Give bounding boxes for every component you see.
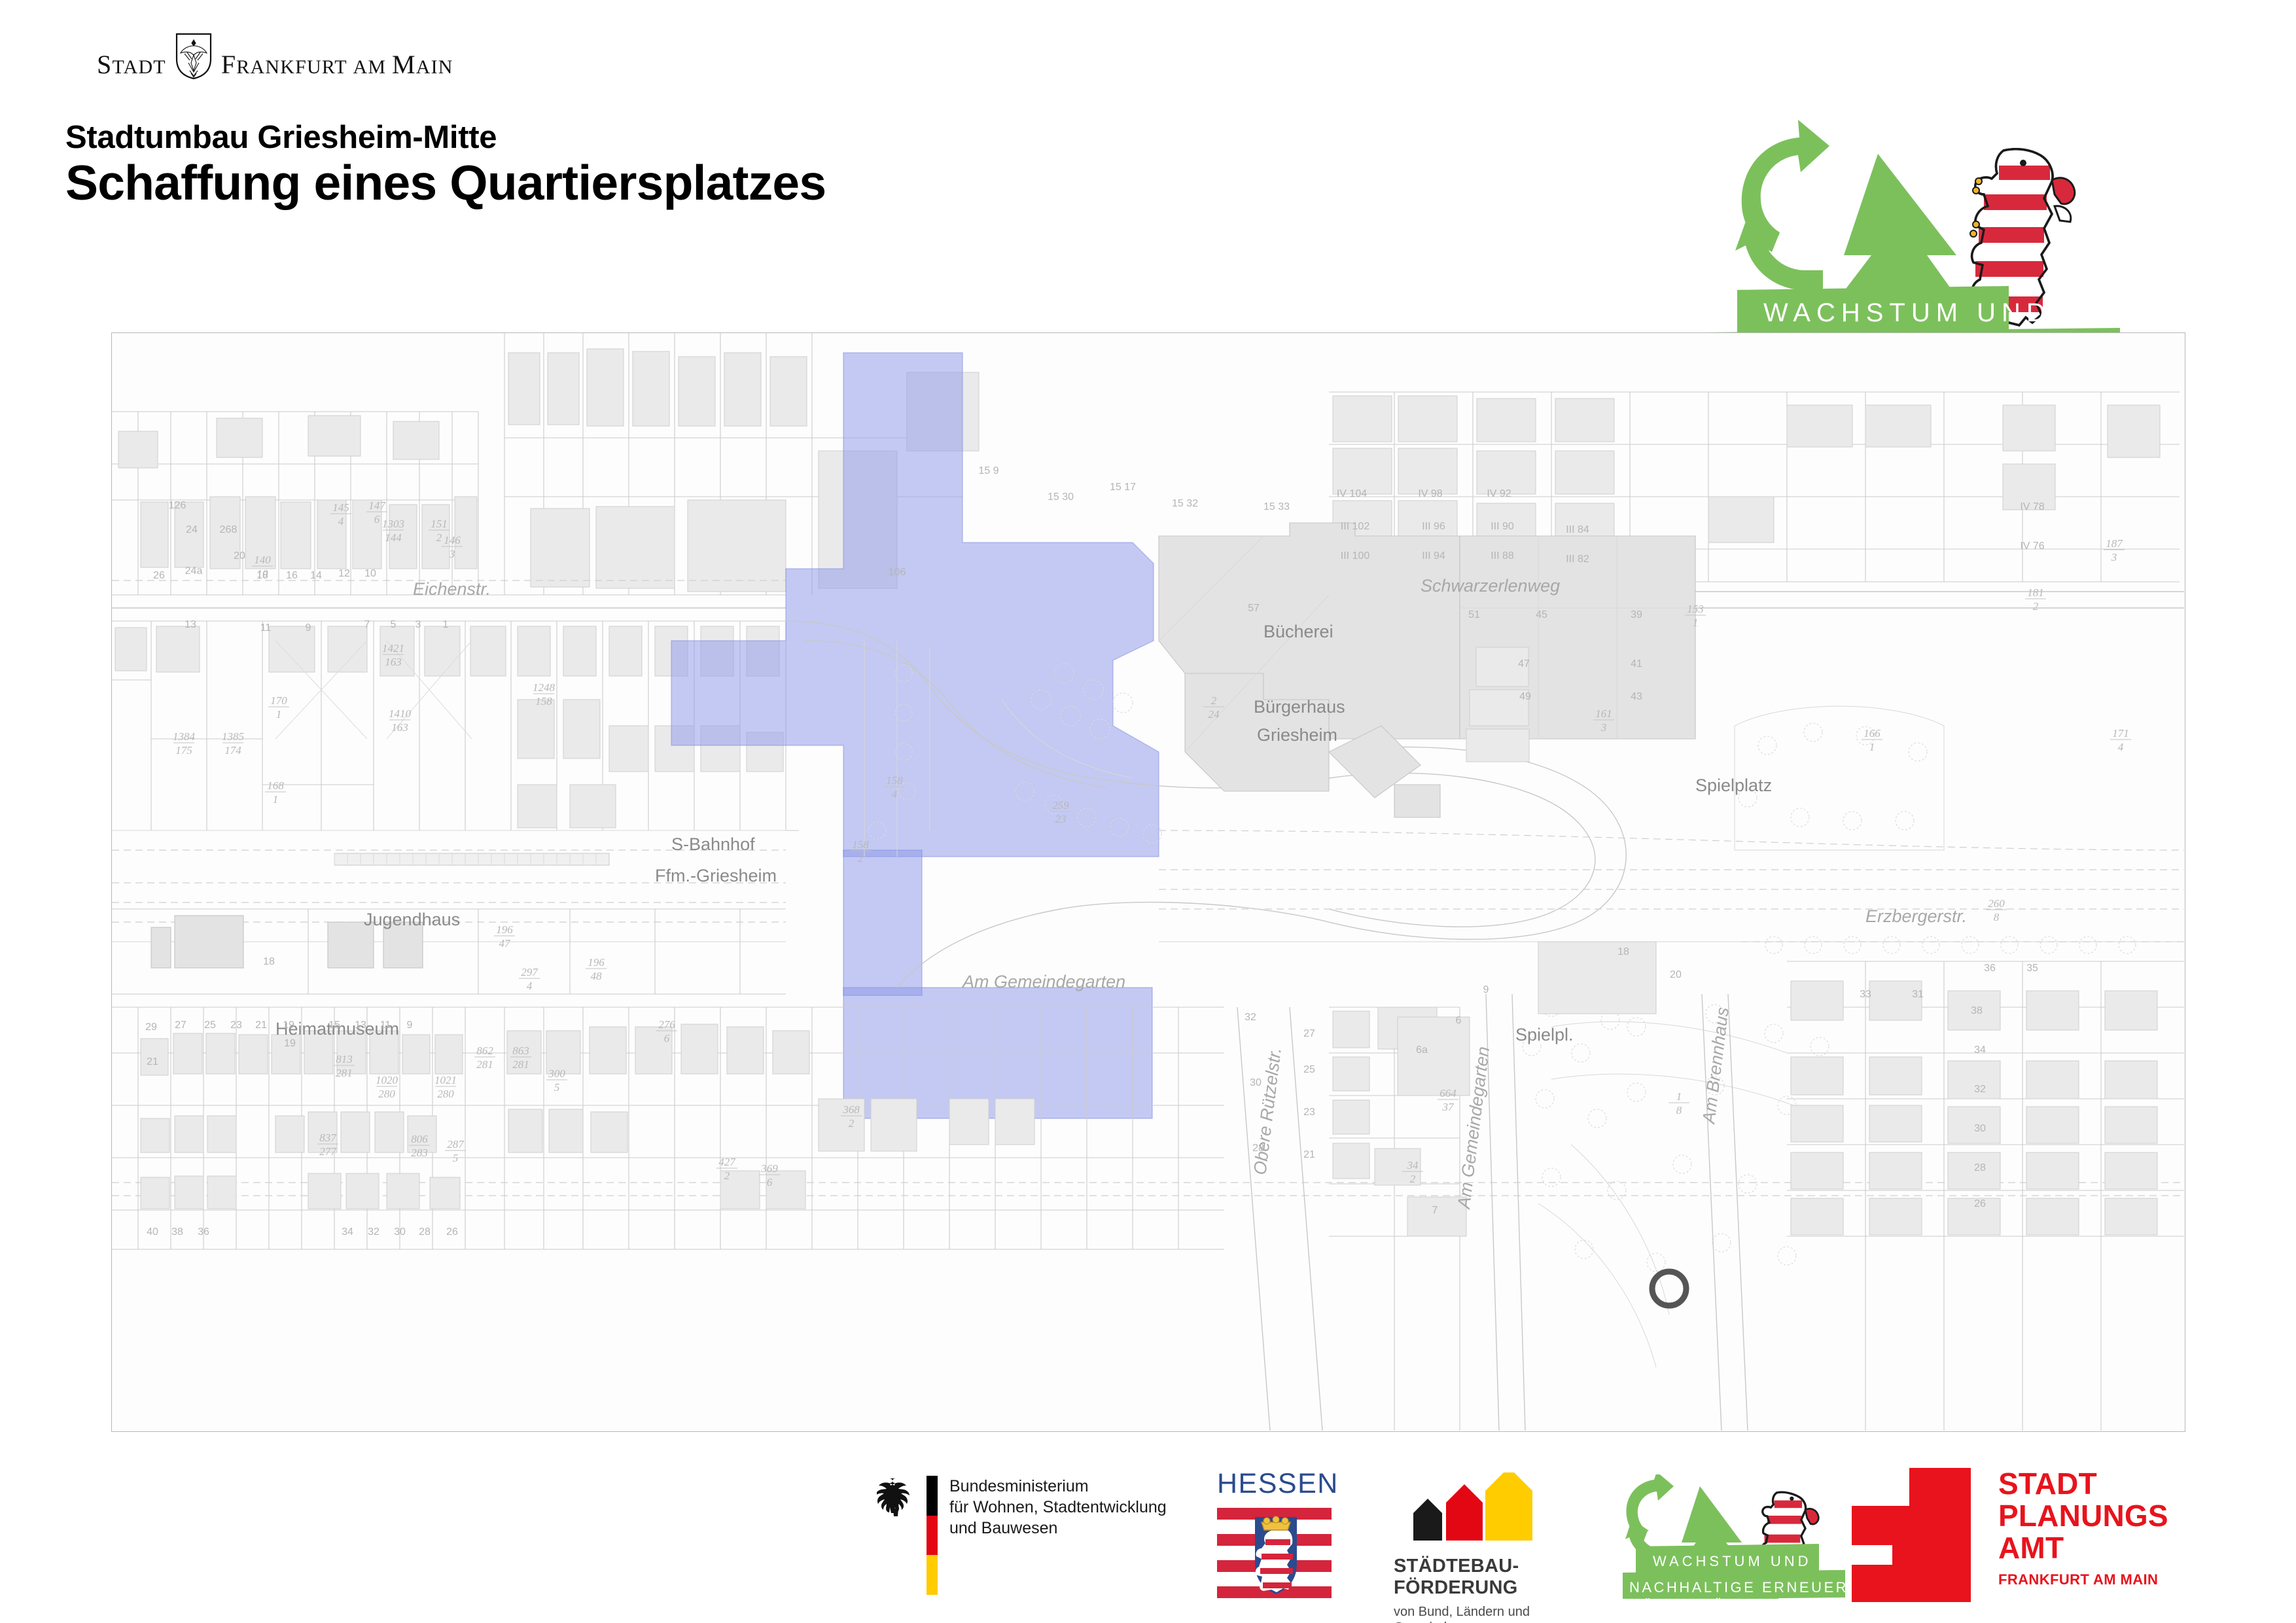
- parcel-house-number: 18: [1617, 946, 1629, 957]
- staedtebau-line-1: STÄDTEBAU-: [1394, 1556, 1616, 1577]
- svg-text:171: 171: [2112, 727, 2129, 740]
- parcel-house-number: III 90: [1491, 521, 1514, 532]
- map-place-label: Ffm.-Griesheim: [655, 866, 777, 885]
- parcel-house-number: 15 30: [1048, 491, 1074, 503]
- svg-text:281: 281: [476, 1058, 493, 1071]
- svg-text:5: 5: [453, 1152, 459, 1164]
- svg-text:163: 163: [391, 721, 408, 734]
- parcel-house-number: 14: [310, 570, 322, 581]
- funding-logo-strip: Bundesministerium für Wohnen, Stadtentwi…: [0, 1450, 2296, 1623]
- parcel-house-number: 51: [1468, 609, 1480, 620]
- parcel-house-number: 15 17: [1110, 482, 1136, 493]
- svg-text:280: 280: [378, 1088, 395, 1100]
- parcel-house-number: 39: [1631, 609, 1642, 620]
- svg-text:862: 862: [476, 1044, 493, 1057]
- parcel-house-number: 15 9: [978, 465, 998, 476]
- city-logo-tadt: TADT: [112, 56, 166, 78]
- svg-text:34: 34: [1407, 1159, 1419, 1171]
- svg-text:369: 369: [760, 1162, 778, 1175]
- parcel-house-number: 31: [1912, 989, 1924, 1000]
- parcel-house-number: 28: [419, 1226, 431, 1238]
- parcel-house-number: 5: [391, 619, 397, 630]
- map-place-label: S-Bahnhof: [671, 834, 755, 854]
- hessen-coat-of-arms-icon: [1217, 1505, 1332, 1603]
- svg-text:2: 2: [1410, 1173, 1416, 1185]
- parcel-house-number: 57: [1248, 603, 1260, 614]
- badge-line-1: WACHSTUM UND: [1763, 298, 2051, 327]
- wachstum-footer-line-2: NACHHALTIGE ERNEUERUNG: [1629, 1579, 1887, 1596]
- svg-text:863: 863: [512, 1044, 529, 1057]
- svg-text:664: 664: [1439, 1087, 1457, 1099]
- bmwsb-flag-bar: [927, 1476, 938, 1595]
- city-logo-s: S: [97, 50, 112, 79]
- parcel-house-number: 26: [153, 570, 165, 581]
- svg-text:140: 140: [254, 554, 271, 566]
- city-logo-ain: AIN: [416, 56, 453, 78]
- svg-text:145: 145: [332, 501, 349, 514]
- badge-banner-1: WACHSTUM UND: [1737, 286, 2051, 334]
- parcel-house-number: 9: [407, 1020, 413, 1031]
- svg-text:23: 23: [1055, 813, 1067, 825]
- parcel-house-number: 106: [889, 567, 906, 578]
- svg-text:8: 8: [1676, 1104, 1682, 1116]
- svg-text:146: 146: [444, 534, 461, 546]
- parcel-house-number: 28: [1974, 1162, 1986, 1173]
- svg-text:4: 4: [338, 515, 344, 527]
- parcel-house-number: 25: [204, 1020, 216, 1031]
- staedtebau-sub: von Bund, Ländern und Gemeinden: [1394, 1604, 1616, 1623]
- parcel-house-number: III 100: [1341, 550, 1370, 562]
- parcel-house-number: 12: [338, 568, 350, 579]
- parcel-house-number: 20: [1670, 969, 1682, 980]
- parcel-house-number: 38: [1971, 1005, 1983, 1016]
- svg-text:4: 4: [892, 788, 898, 800]
- parcel-house-number: 23: [1303, 1107, 1315, 1118]
- svg-text:300: 300: [548, 1067, 565, 1080]
- map-place-label: Schwarzerlenweg: [1421, 576, 1560, 596]
- parcel-house-number: 30: [394, 1226, 406, 1238]
- svg-text:1: 1: [1693, 616, 1699, 629]
- parcel-house-number: 13: [185, 619, 196, 630]
- svg-text:1303: 1303: [382, 518, 404, 530]
- parcel-house-number: 32: [1974, 1084, 1986, 1095]
- parcel-house-number: 15 33: [1263, 501, 1290, 512]
- svg-text:427: 427: [718, 1156, 736, 1168]
- parcel-house-number: III 84: [1566, 524, 1589, 535]
- parcel-house-number: 21: [147, 1056, 158, 1067]
- bmwsb-logo: Bundesministerium für Wohnen, Stadtentwi…: [877, 1476, 1167, 1595]
- stadtplanungsamt-block-mark-icon: [1852, 1468, 1971, 1602]
- city-logo-m: M: [392, 50, 416, 79]
- parcel-house-number: 43: [1631, 691, 1642, 702]
- cadastral-site-map[interactable]: Eichenstr.SchwarzerlenwegBüchereiBürgerh…: [111, 332, 2185, 1432]
- svg-text:196: 196: [588, 956, 605, 969]
- parcel-house-number: 21: [1303, 1149, 1315, 1160]
- map-place-label: Eichenstr.: [413, 579, 491, 599]
- svg-text:2: 2: [1211, 694, 1217, 707]
- svg-text:151: 151: [431, 518, 448, 530]
- parcel-house-number: 13: [355, 1020, 366, 1031]
- parcel-house-number: 23: [230, 1020, 242, 1031]
- svg-text:48: 48: [591, 970, 603, 982]
- parcel-house-number: III 94: [1422, 550, 1445, 562]
- parcel-house-number: 29: [145, 1022, 157, 1033]
- spa-line-3: AMT: [1998, 1532, 2168, 1564]
- svg-text:6: 6: [374, 513, 380, 526]
- parcel-house-number: 34: [342, 1226, 353, 1238]
- svg-text:144: 144: [385, 531, 402, 544]
- staedtebau-line-2: FÖRDERUNG: [1394, 1577, 1616, 1599]
- svg-text:147: 147: [368, 499, 386, 512]
- bmwsb-line-2: für Wohnen, Stadtentwicklung: [949, 1497, 1167, 1518]
- map-place-label: Am Gemeindegarten: [961, 972, 1125, 991]
- parcel-house-number: 33: [1860, 989, 1871, 1000]
- svg-text:4: 4: [527, 980, 533, 992]
- parcel-house-number: 32: [368, 1226, 380, 1238]
- bmwsb-line-3: und Bauwesen: [949, 1518, 1167, 1539]
- parcel-house-number: 6a: [1416, 1044, 1428, 1056]
- parcel-house-number: IV 76: [2020, 541, 2044, 552]
- parcel-house-number: III 96: [1422, 521, 1445, 532]
- svg-text:281: 281: [336, 1067, 353, 1079]
- svg-text:166: 166: [1863, 727, 1881, 740]
- staedtebau-name: STÄDTEBAU- FÖRDERUNG: [1394, 1556, 1616, 1599]
- svg-text:187: 187: [2106, 537, 2123, 550]
- svg-text:6: 6: [767, 1176, 773, 1188]
- parcel-house-number: 28: [1252, 1143, 1264, 1154]
- parcel-house-number: 18: [256, 570, 268, 581]
- parcel-house-number: 11: [260, 622, 272, 633]
- parcel-house-number: 126: [169, 500, 186, 511]
- parcel-house-number: 19: [283, 1020, 294, 1031]
- parcel-house-number: 20: [234, 550, 245, 562]
- svg-text:1: 1: [1676, 1090, 1682, 1103]
- parcel-house-number: 35: [2026, 963, 2038, 974]
- map-place-label: Bücherei: [1263, 622, 1333, 641]
- parcel-house-number: 1: [443, 619, 449, 630]
- svg-text:1: 1: [276, 708, 282, 721]
- svg-text:1410: 1410: [389, 707, 412, 720]
- svg-text:2: 2: [724, 1169, 730, 1182]
- parcel-house-number: 9: [1483, 984, 1489, 995]
- svg-text:153: 153: [1687, 603, 1704, 615]
- svg-text:6: 6: [664, 1032, 670, 1044]
- map-place-label: Griesheim: [1257, 725, 1337, 745]
- svg-text:196: 196: [496, 923, 513, 936]
- project-subtitle: Stadtumbau Griesheim-Mitte: [65, 119, 497, 156]
- svg-text:1421: 1421: [382, 642, 404, 654]
- parcel-house-number: 40: [147, 1226, 158, 1238]
- parcel-house-number: 41: [1631, 658, 1642, 669]
- parcel-house-number: 7: [364, 619, 370, 630]
- svg-text:1385: 1385: [222, 730, 244, 743]
- city-logo-f: F: [221, 50, 236, 79]
- parcel-house-number: 25: [1303, 1064, 1315, 1075]
- parcel-house-number: 18: [263, 956, 275, 967]
- parcel-house-number: 268: [220, 524, 238, 535]
- svg-text:175: 175: [175, 744, 192, 757]
- staedtebau-sub-1: von Bund, Ländern und: [1394, 1604, 1616, 1620]
- parcel-house-number: IV 78: [2020, 501, 2044, 512]
- page-title: Schaffung eines Quartiersplatzes: [65, 154, 826, 211]
- map-place-label: Bürgerhaus: [1254, 697, 1345, 717]
- svg-text:2: 2: [2033, 600, 2039, 613]
- svg-text:5: 5: [554, 1081, 560, 1094]
- wachstum-footer-line-3: STÄDTEBAUFÖRDERUNG HESSEN: [1627, 1598, 1847, 1599]
- staedtebau-sub-2: Gemeinden: [1394, 1620, 1616, 1623]
- parcel-house-number: 36: [198, 1226, 209, 1238]
- svg-text:3: 3: [1600, 721, 1607, 734]
- parcel-house-number: 19: [284, 1038, 296, 1049]
- parcel-house-number: 21: [255, 1020, 267, 1031]
- parcel-house-number: 32: [1245, 1012, 1256, 1023]
- svg-text:8: 8: [1994, 911, 2000, 923]
- svg-text:158: 158: [535, 695, 552, 707]
- svg-text:259: 259: [1052, 799, 1069, 811]
- svg-text:260: 260: [1988, 897, 2005, 910]
- svg-text:1: 1: [1869, 741, 1875, 753]
- svg-text:276: 276: [658, 1018, 675, 1031]
- svg-text:368: 368: [842, 1103, 860, 1116]
- map-place-label: Spielpl.: [1515, 1025, 1574, 1044]
- parcel-house-number: 27: [1303, 1028, 1315, 1039]
- hessen-state-logo: HESSEN: [1217, 1468, 1339, 1607]
- map-place-label: Spielplatz: [1695, 776, 1772, 795]
- bmwsb-name: Bundesministerium für Wohnen, Stadtentwi…: [949, 1476, 1167, 1539]
- parcel-house-number: 34: [1974, 1044, 1986, 1056]
- svg-text:813: 813: [336, 1053, 353, 1065]
- parcel-house-number: 26: [446, 1226, 458, 1238]
- parcel-house-number: 47: [1518, 658, 1530, 669]
- bmwsb-line-1: Bundesministerium: [949, 1476, 1167, 1497]
- wachstum-footer-line-1: WACHSTUM UND: [1653, 1553, 1812, 1569]
- parcel-house-number: 9: [306, 622, 311, 633]
- parcel-house-number: 10: [364, 568, 376, 579]
- city-logo-frankfurt-am-main: FRANKFURT AM MAIN: [221, 49, 453, 80]
- city-of-frankfurt-logo: STADT FRANKFURT AM MAIN: [97, 33, 453, 80]
- svg-text:3: 3: [2111, 551, 2117, 563]
- map-place-label: Erzbergerstr.: [1865, 906, 1967, 926]
- spa-line-1: STADT: [1998, 1468, 2168, 1500]
- svg-text:1: 1: [273, 793, 279, 806]
- svg-text:2: 2: [436, 531, 442, 544]
- svg-text:281: 281: [512, 1058, 529, 1071]
- svg-text:837: 837: [319, 1132, 337, 1144]
- svg-text:1021: 1021: [434, 1074, 457, 1086]
- staedtebaufoerderung-logo: STÄDTEBAU- FÖRDERUNG von Bund, Ländern u…: [1394, 1472, 1616, 1623]
- svg-text:158: 158: [886, 774, 903, 787]
- spa-line-2: PLANUNGS: [1998, 1500, 2168, 1532]
- stadtplanungsamt-logo: STADT PLANUNGS AMT FRANKFURT AM MAIN: [1852, 1468, 2168, 1602]
- svg-text:163: 163: [385, 656, 402, 668]
- svg-text:47: 47: [499, 937, 512, 950]
- parcel-house-number: IV 104: [1337, 488, 1367, 499]
- poster-page: STADT FRANKFURT AM MAIN Stadtumbau Gries…: [0, 0, 2296, 1623]
- city-logo-stadt: STADT: [97, 49, 166, 80]
- svg-text:2: 2: [849, 1117, 855, 1130]
- federal-eagle-icon: [877, 1476, 915, 1518]
- svg-text:287: 287: [447, 1138, 465, 1150]
- spa-subtitle: FRANKFURT AM MAIN: [1998, 1571, 2168, 1588]
- parcel-house-number: IV 92: [1487, 488, 1511, 499]
- map-place-label: Jugendhaus: [364, 910, 460, 929]
- recycle-arrow-icon: [1735, 120, 1829, 290]
- parcel-house-number: 49: [1519, 691, 1531, 702]
- svg-text:3: 3: [449, 548, 455, 560]
- parcel-house-number: 3: [415, 619, 421, 630]
- svg-text:161: 161: [1595, 707, 1612, 720]
- svg-text:280: 280: [437, 1088, 454, 1100]
- city-logo-am: AM: [353, 56, 387, 78]
- parcel-house-number: 36: [1984, 963, 1996, 974]
- svg-text:1248: 1248: [533, 681, 556, 694]
- parcel-house-number: IV 98: [1418, 488, 1442, 499]
- parcel-house-number: III 102: [1341, 521, 1370, 532]
- frankfurt-eagle-crest-icon: [175, 33, 212, 80]
- svg-text:168: 168: [267, 779, 284, 792]
- three-houses-icon: [1394, 1472, 1564, 1544]
- parcel-house-number: 16: [286, 570, 298, 581]
- svg-text:181: 181: [2027, 586, 2044, 599]
- svg-text:24: 24: [1209, 708, 1220, 721]
- svg-text:1020: 1020: [376, 1074, 398, 1086]
- parcel-house-number: 24a: [185, 565, 203, 577]
- parcel-house-number: 7: [1432, 1205, 1438, 1216]
- svg-text:806: 806: [411, 1133, 428, 1145]
- city-logo-rankfurt: RANKFURT: [236, 56, 347, 78]
- parcel-house-number: 24: [186, 524, 198, 535]
- parcel-house-number: 11: [380, 1020, 391, 1031]
- svg-text:277: 277: [319, 1145, 337, 1158]
- svg-text:158: 158: [852, 838, 869, 851]
- parcel-house-number: 30: [1250, 1077, 1262, 1088]
- parcel-house-number: 15 32: [1172, 498, 1198, 509]
- parcel-house-number: III 88: [1491, 550, 1514, 562]
- parcel-house-number: 15: [328, 1020, 340, 1031]
- svg-text:174: 174: [224, 744, 241, 757]
- parcel-house-number: III 82: [1566, 554, 1589, 565]
- svg-text:297: 297: [521, 966, 539, 978]
- svg-text:1384: 1384: [173, 730, 196, 743]
- parcel-house-number: 30: [1974, 1123, 1986, 1134]
- parcel-house-number: 45: [1536, 609, 1547, 620]
- parcel-house-number: 27: [175, 1020, 186, 1031]
- parcel-house-number: 26: [1974, 1198, 1986, 1209]
- parcel-house-number: 6: [1456, 1015, 1462, 1026]
- svg-text:170: 170: [270, 694, 287, 707]
- svg-text:37: 37: [1442, 1101, 1455, 1113]
- hessen-wordmark: HESSEN: [1217, 1468, 1339, 1500]
- parcel-house-number: 38: [171, 1226, 183, 1238]
- svg-text:2: 2: [858, 852, 864, 865]
- svg-text:4: 4: [2118, 741, 2124, 753]
- svg-text:283: 283: [411, 1147, 428, 1159]
